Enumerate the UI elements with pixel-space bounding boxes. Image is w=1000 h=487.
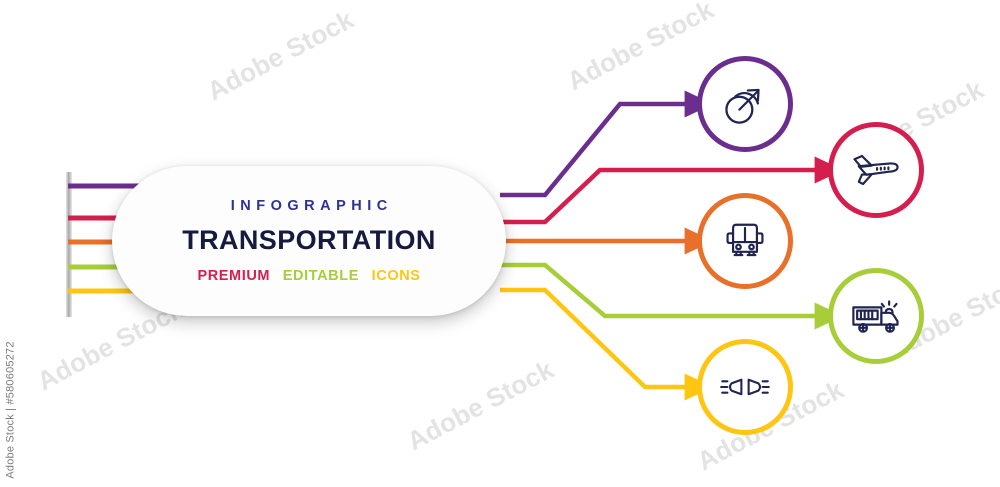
icon-node-headlight[interactable] bbox=[697, 339, 793, 435]
airplane-icon bbox=[848, 142, 904, 198]
infographic-canvas: Adobe Stock Adobe Stock Adobe Stock Adob… bbox=[0, 0, 1000, 487]
card-tags: PREMIUM EDITABLE ICONS bbox=[193, 268, 424, 284]
icon-node-bus[interactable] bbox=[697, 193, 793, 289]
headlight-icon bbox=[716, 358, 774, 416]
icon-node-airplane[interactable] bbox=[828, 122, 924, 218]
bus-front-icon bbox=[719, 215, 771, 267]
tag-editable: EDITABLE bbox=[283, 268, 359, 284]
fire-truck-icon bbox=[848, 288, 904, 344]
tag-premium: PREMIUM bbox=[197, 268, 270, 284]
icon-node-circle-arrow[interactable] bbox=[697, 56, 793, 152]
tag-icons: ICONS bbox=[372, 268, 421, 284]
card-eyebrow: INFOGRAPHIC bbox=[225, 198, 393, 214]
circle-arrow-icon bbox=[718, 77, 772, 131]
connector-line-1 bbox=[500, 104, 690, 195]
page-title: TRANSPORTATION bbox=[182, 225, 436, 256]
icon-node-fire-truck[interactable] bbox=[828, 268, 924, 364]
center-title-card: INFOGRAPHIC TRANSPORTATION PREMIUM EDITA… bbox=[112, 166, 506, 316]
